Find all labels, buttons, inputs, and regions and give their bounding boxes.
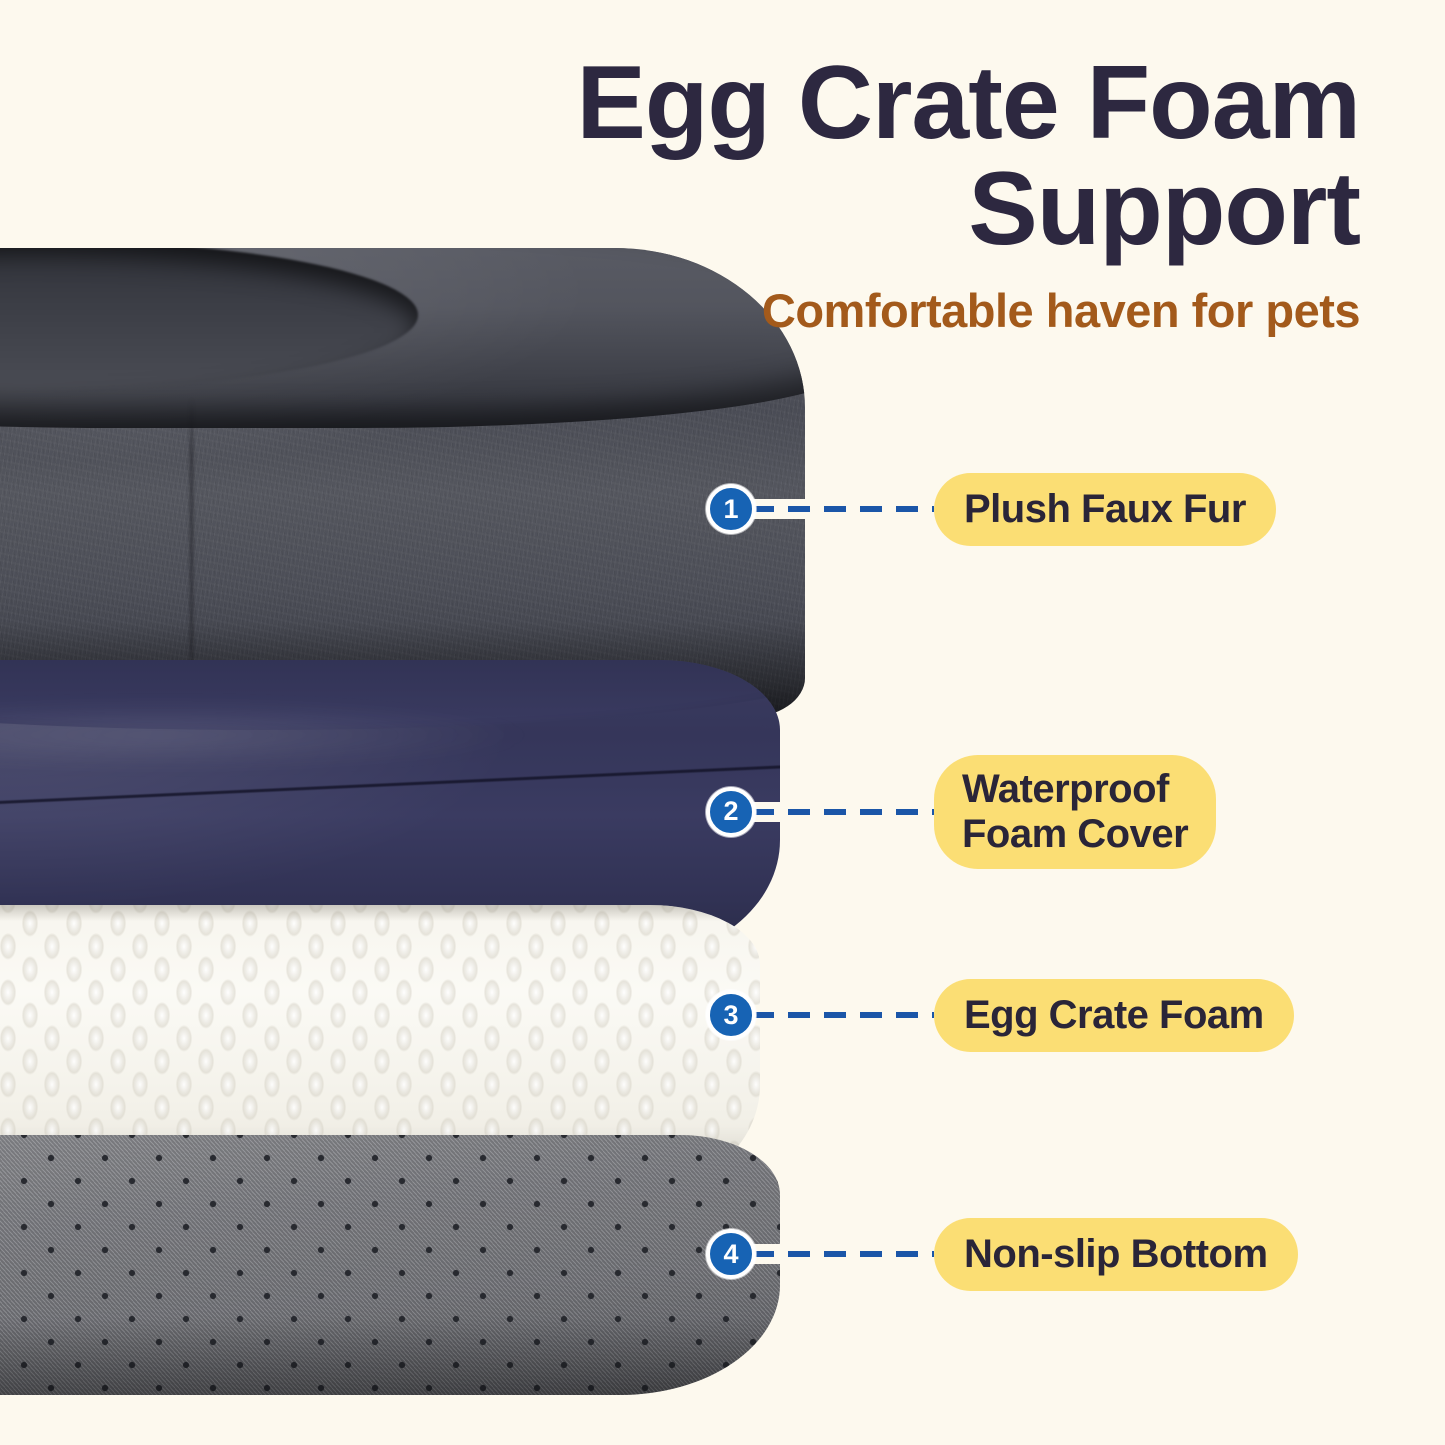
callout-waterproof-foam-cover: 2 Waterproof Foam Cover (706, 755, 1216, 869)
callout-badge-4: 4 (706, 1229, 756, 1279)
fur-bolster-rim (0, 248, 805, 428)
callout-badge-2: 2 (706, 787, 756, 837)
callout-badge-1: 1 (706, 484, 756, 534)
page-title-line-2: Support (480, 156, 1360, 262)
grip-bottom-shadow (0, 1317, 780, 1395)
callout-connector-1 (752, 499, 934, 519)
callout-egg-crate-foam: 3 Egg Crate Foam (706, 979, 1294, 1052)
callout-plush-faux-fur: 1 Plush Faux Fur (706, 473, 1276, 546)
callout-connector-4 (752, 1244, 934, 1264)
foam-top-edge (0, 905, 760, 921)
product-layer-non-slip-bottom (0, 1135, 780, 1395)
callout-connector-2 (752, 802, 934, 822)
callout-connector-3 (752, 1005, 934, 1025)
infographic-canvas: Egg Crate Foam Support Comfortable haven… (0, 0, 1445, 1445)
navy-seam-line (0, 765, 780, 819)
callout-label-3: Egg Crate Foam (934, 979, 1294, 1052)
page-subtitle: Comfortable haven for pets (480, 283, 1360, 338)
callout-label-1: Plush Faux Fur (934, 473, 1276, 546)
callout-badge-3: 3 (706, 990, 756, 1040)
navy-sheen-highlight (0, 700, 540, 770)
page-title-line-1: Egg Crate Foam (480, 50, 1360, 156)
bed-inner-cavity (0, 248, 418, 390)
callout-non-slip-bottom: 4 Non-slip Bottom (706, 1218, 1298, 1291)
page-title: Egg Crate Foam Support (480, 50, 1360, 262)
callout-label-4: Non-slip Bottom (934, 1218, 1298, 1291)
callout-label-2: Waterproof Foam Cover (934, 755, 1216, 869)
